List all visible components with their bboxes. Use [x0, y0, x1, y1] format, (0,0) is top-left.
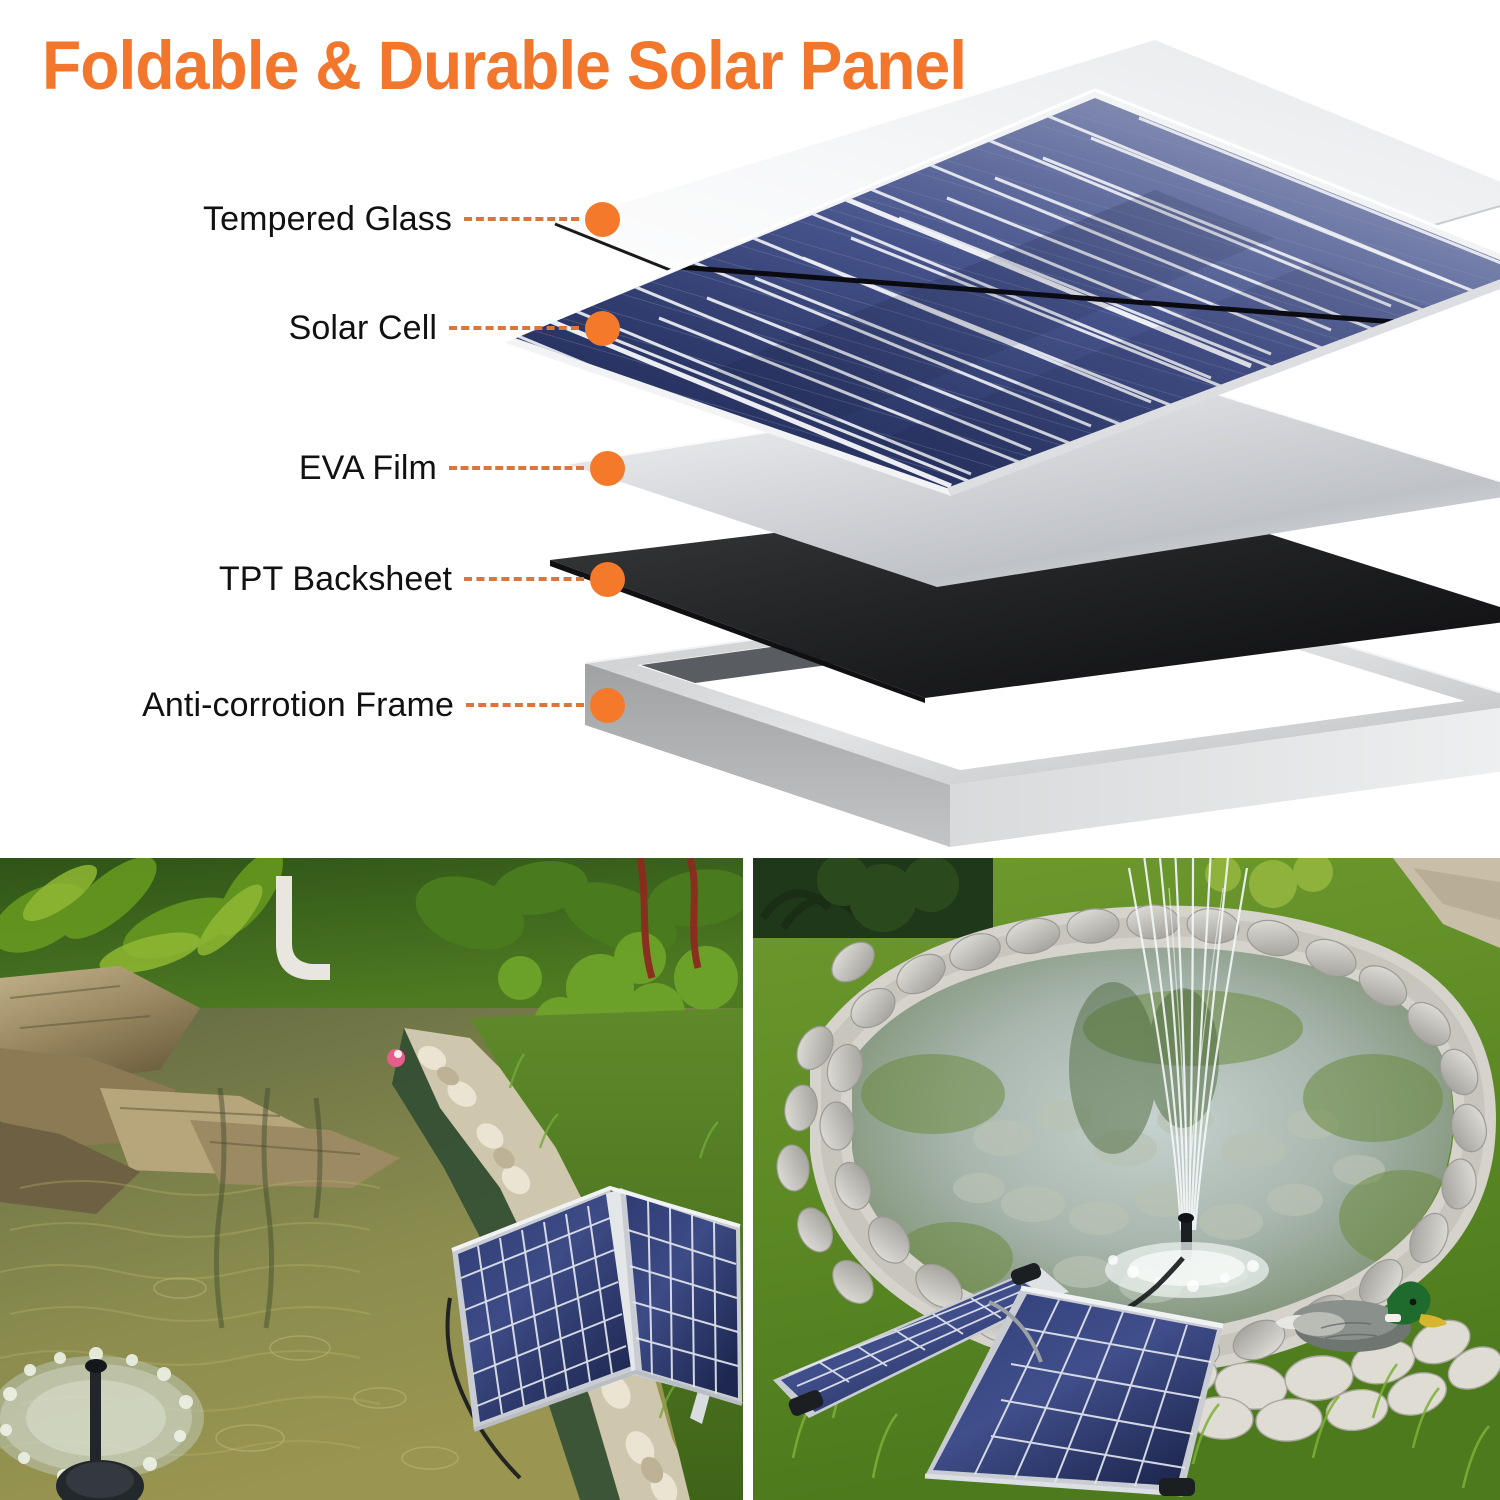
callout-label-eva-film: EVA Film [299, 445, 437, 491]
callout-eva-film: EVA Film [0, 445, 625, 491]
leader-line-eva-film [449, 466, 584, 470]
leader-line-solar-cell [449, 326, 579, 330]
page-title: Foldable & Durable Solar Panel [42, 26, 966, 105]
callout-label-tempered-glass: Tempered Glass [203, 196, 452, 242]
photo-pond-with-panel-on-stand [0, 858, 743, 1500]
callout-dot-anti-corrotion-frame [590, 688, 625, 723]
callout-tempered-glass: Tempered Glass [0, 196, 620, 242]
callout-label-anti-corrotion-frame: Anti-corrotion Frame [142, 682, 454, 728]
callout-solar-cell: Solar Cell [0, 305, 620, 351]
infographic-page: Foldable & Durable Solar Panel [0, 0, 1500, 1500]
callout-dot-tpt-backsheet [590, 562, 625, 597]
photo-pond-with-fountain-jet [753, 858, 1500, 1500]
leader-line-anti-corrotion-frame [466, 703, 584, 707]
callout-anti-corrotion-frame: Anti-corrotion Frame [0, 682, 625, 728]
layer-solar-cell [455, 70, 1500, 500]
callout-dot-tempered-glass [585, 202, 620, 237]
callout-label-tpt-backsheet: TPT Backsheet [219, 556, 452, 602]
leader-line-tempered-glass [464, 217, 579, 221]
callout-label-solar-cell: Solar Cell [289, 305, 437, 351]
photo-gallery [0, 858, 1500, 1500]
callout-tpt-backsheet: TPT Backsheet [0, 556, 625, 602]
leader-line-tpt-backsheet [464, 577, 584, 581]
callout-dot-solar-cell [585, 311, 620, 346]
callout-dot-eva-film [590, 451, 625, 486]
exploded-diagram-section: Foldable & Durable Solar Panel [0, 0, 1500, 858]
